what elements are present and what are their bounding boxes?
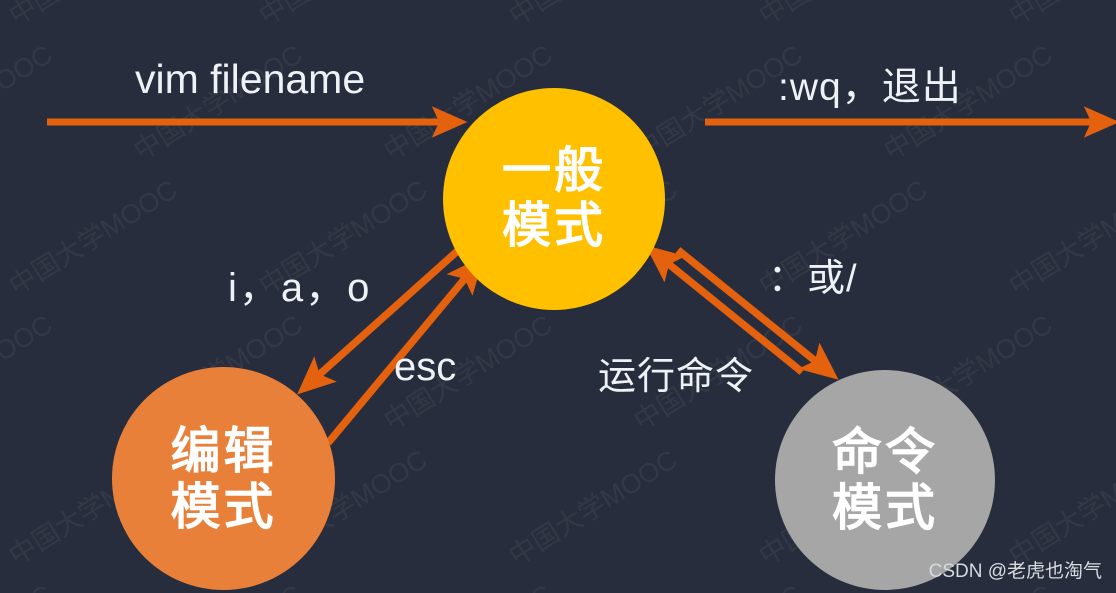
watermark-text: 中国大学MOOC — [0, 168, 183, 303]
watermark-text: 中国大学MOOC — [500, 0, 683, 33]
diagram-canvas: 中国大学MOOC中国大学MOOC中国大学MOOC中国大学MOOC中国大学MOOC… — [0, 0, 1116, 593]
node-normal-mode-line1: 一般 — [502, 144, 606, 199]
node-command-mode-line2: 模式 — [832, 480, 938, 536]
watermark-text: 中国大学MOOC — [0, 303, 58, 438]
watermark-text: 中国大学MOOC — [1000, 0, 1116, 33]
label-to-insert: i，a，o — [228, 255, 371, 313]
watermark-text: 中国大学MOOC — [0, 33, 58, 168]
watermark-text: 中国大学MOOC — [0, 573, 58, 593]
watermark-text: 中国大学MOOC — [375, 573, 558, 593]
node-normal-mode[interactable]: 一般 模式 — [443, 88, 665, 310]
node-command-mode-line1: 命令 — [832, 424, 938, 480]
node-insert-mode-line2: 模式 — [171, 479, 277, 535]
watermark-text: 中国大学MOOC — [625, 573, 808, 593]
label-to-command: ：或/ — [768, 247, 858, 302]
label-quit: :wq，退出 — [778, 56, 962, 112]
label-run-command: 运行命令 — [598, 345, 754, 400]
label-esc: esc — [394, 345, 456, 390]
watermark-text: 中国大学MOOC — [500, 438, 683, 573]
watermark-text: 中国大学MOOC — [750, 0, 933, 33]
label-enter-vim: vim filename — [135, 56, 365, 103]
node-insert-mode-line1: 编辑 — [171, 423, 277, 479]
watermark-text: 中国大学MOOC — [1000, 168, 1116, 303]
node-normal-mode-line2: 模式 — [502, 199, 606, 254]
watermark-text: 中国大学MOOC — [0, 0, 183, 33]
node-insert-mode[interactable]: 编辑 模式 — [112, 367, 335, 590]
watermark-text: 中国大学MOOC — [250, 0, 433, 33]
watermark-text: 中国大学MOOC — [1000, 438, 1116, 573]
credit-watermark: CSDN @老虎也淘气 — [929, 556, 1102, 583]
